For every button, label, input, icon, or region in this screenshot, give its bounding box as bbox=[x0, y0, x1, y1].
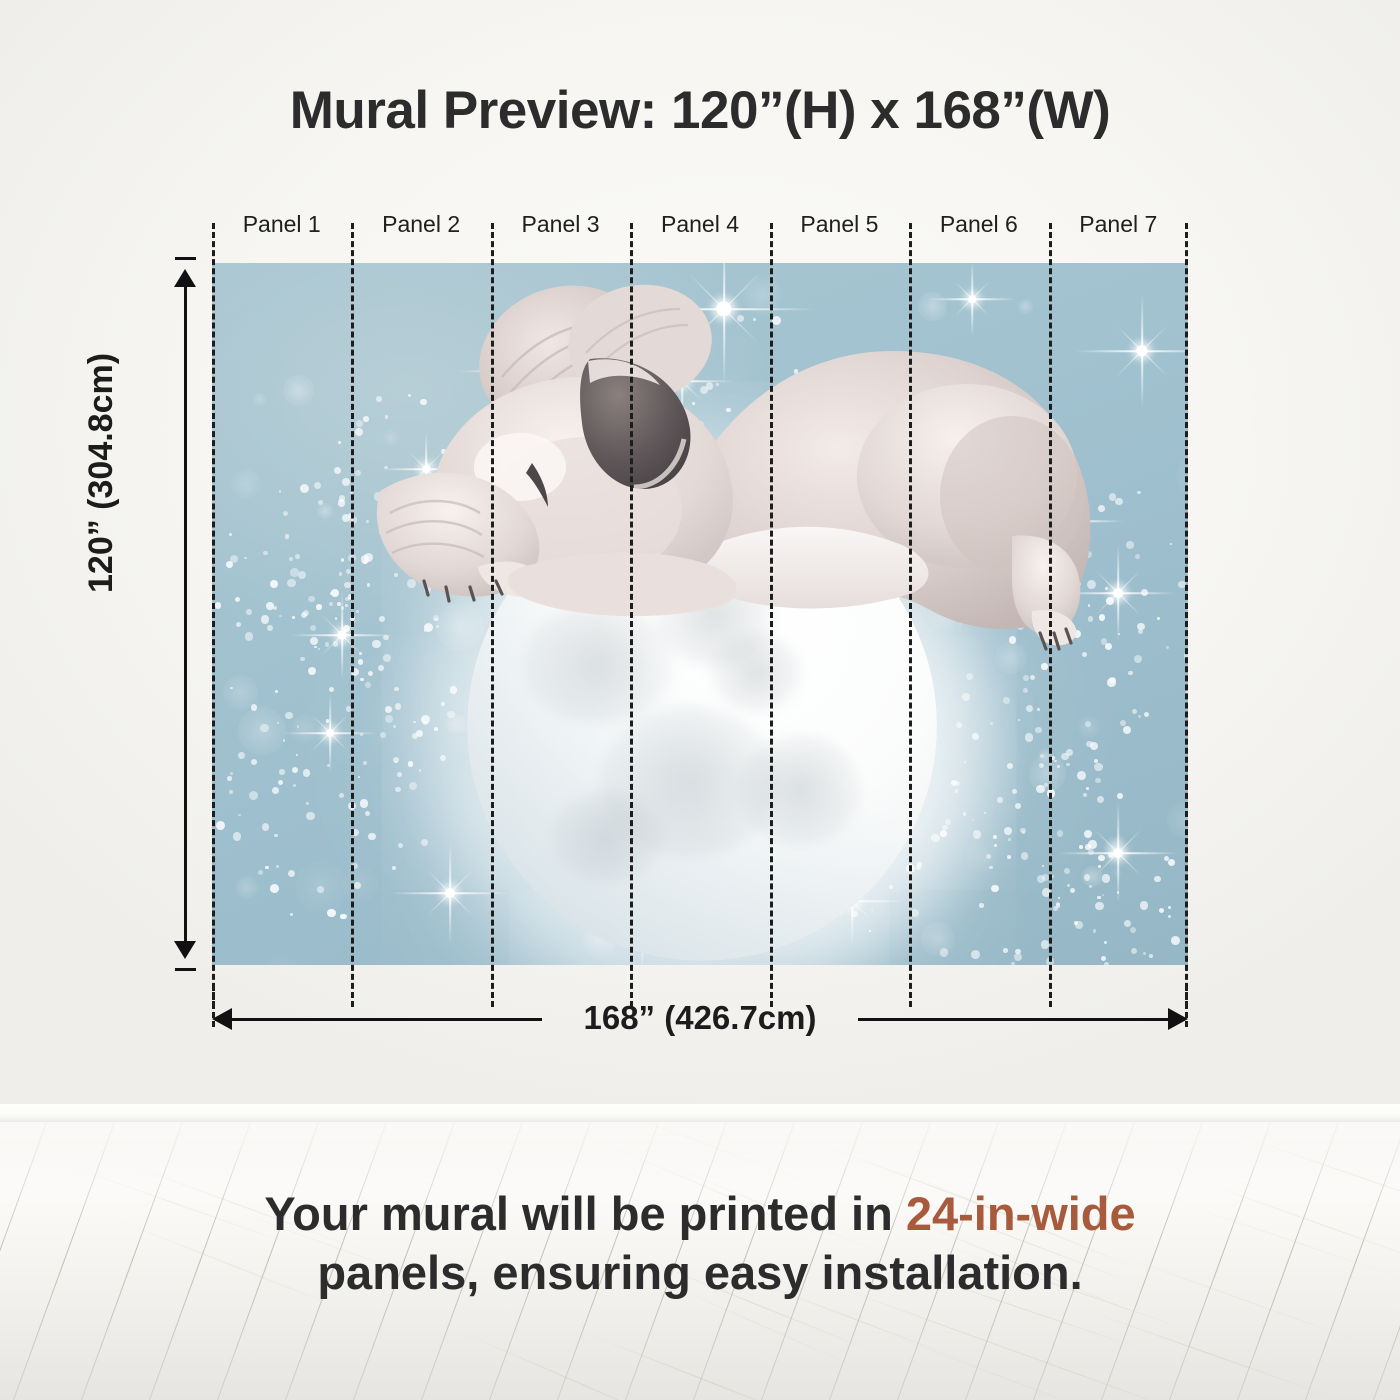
caption-text-before: Your mural will be printed in bbox=[264, 1187, 906, 1240]
panel-divider bbox=[1185, 223, 1188, 1007]
panel-divider bbox=[491, 223, 494, 1007]
panel-label-2: Panel 2 bbox=[351, 211, 490, 238]
page-title: Mural Preview: 120”(H) x 168”(W) bbox=[0, 80, 1400, 141]
panel-label-1: Panel 1 bbox=[212, 211, 351, 238]
panel-label-5: Panel 5 bbox=[770, 211, 909, 238]
width-dimension-line: 168” (426.7cm) bbox=[212, 999, 1188, 1039]
panel-divider bbox=[770, 223, 773, 1007]
panel-label-7: Panel 7 bbox=[1049, 211, 1188, 238]
panel-divider bbox=[630, 223, 633, 1007]
height-dimension-label: 120” (304.8cm) bbox=[82, 353, 121, 593]
baseboard bbox=[0, 1104, 1400, 1124]
panel-divider bbox=[1049, 223, 1052, 1007]
panel-divider bbox=[909, 223, 912, 1007]
caption-line-2: panels, ensuring easy installation. bbox=[0, 1244, 1400, 1303]
panel-divider bbox=[212, 223, 215, 1007]
caption-accent-text: 24-in-wide bbox=[906, 1187, 1136, 1240]
footer-caption: Your mural will be printed in 24-in-wide… bbox=[0, 1185, 1400, 1303]
mural-preview: Panel 1Panel 2Panel 3Panel 4Panel 5Panel… bbox=[212, 263, 1188, 965]
room-scene: Mural Preview: 120”(H) x 168”(W) bbox=[0, 0, 1400, 1400]
panel-divider bbox=[351, 223, 354, 1007]
panel-label-6: Panel 6 bbox=[909, 211, 1048, 238]
mural-artwork bbox=[212, 263, 1188, 965]
panel-label-3: Panel 3 bbox=[491, 211, 630, 238]
width-dimension-label: 168” (426.7cm) bbox=[212, 999, 1188, 1037]
panel-label-4: Panel 4 bbox=[630, 211, 769, 238]
koala-illustration bbox=[372, 281, 1112, 651]
height-dimension-line bbox=[170, 263, 200, 965]
caption-line-1: Your mural will be printed in 24-in-wide bbox=[0, 1185, 1400, 1244]
